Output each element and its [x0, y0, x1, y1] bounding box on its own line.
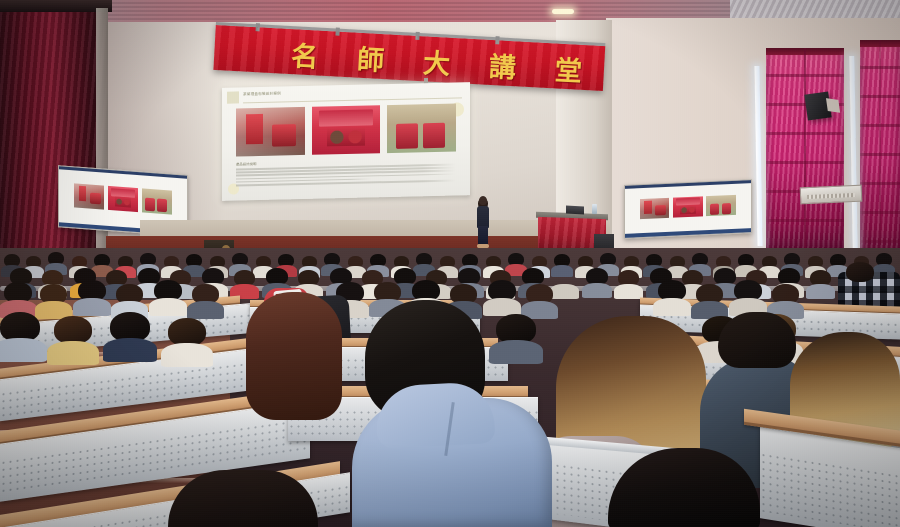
main-projection-screen: 茶葉禮盒包裝設計案例 產品設計說明: [222, 82, 470, 201]
laptop-on-table: [566, 206, 584, 215]
slide-accent-swatch: [227, 91, 239, 103]
blue-hoodie-student: [352, 398, 552, 527]
right-side-projection-screen: [624, 179, 752, 239]
banner-char-4: 講: [469, 43, 537, 86]
slide-photo-1: [236, 107, 305, 157]
slide-heading: 茶葉禮盒包裝設計案例: [243, 91, 281, 97]
water-bottle: [592, 204, 597, 214]
banner-char-5: 堂: [535, 47, 603, 90]
window-curtain-right: [860, 40, 900, 254]
presenter: [474, 196, 492, 248]
slide-body-text: 產品設計說明: [236, 157, 456, 188]
slide-photo-strip: [236, 104, 456, 157]
slide-photo-3: [387, 104, 456, 154]
window-curtain-left: [766, 48, 844, 248]
head-plaid-student: [846, 262, 874, 282]
lecture-hall-photo: 名 師 大 講 堂 茶葉禮盒包裝設計案例 產品設計說明: [0, 0, 900, 527]
brown-hair-student: [246, 292, 342, 420]
recessed-ceiling-light: [552, 9, 574, 14]
air-conditioner-unit: [800, 185, 863, 205]
banner-char-2: 師: [337, 36, 405, 79]
slide-photo-2: [312, 105, 381, 155]
banner-char-3: 大: [403, 40, 471, 83]
wall-speaker-icon: [804, 91, 831, 120]
banner-char-1: 名: [271, 33, 339, 76]
